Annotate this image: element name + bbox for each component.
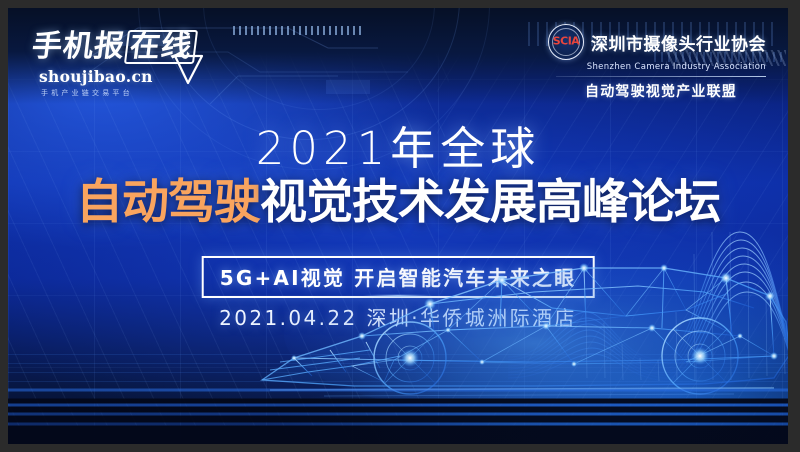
datetime-glow-accent [363,295,433,297]
brand-url: shoujibao.cn [39,67,202,86]
datetime-text: 2021.04.22 深圳·华侨城洲际酒店 [219,306,577,330]
subtitle-banner: 5G+AI视觉 开启智能汽车未来之眼 [202,256,595,298]
tick-strip-decoration [233,26,361,35]
brand-tagline: 手机产业链交易平台 [41,88,202,98]
association-divider [556,76,766,77]
letterbox-bottom [0,444,800,452]
brand-logo: 手机报在线 shoujibao.cn 手机产业链交易平台 [32,30,202,92]
alliance-name-cn: 自动驾驶视觉产业联盟 [556,81,766,101]
letterbox-top [0,0,800,8]
association-name-row: SCIA 深圳市摄像头行业协会 [556,24,766,60]
letterbox-right [788,0,800,452]
tech-arc-decoration [203,8,435,110]
bottom-streak-lines [8,384,788,444]
event-datetime-venue: 2021.04.22 深圳·华侨城洲际酒店 [8,302,788,331]
title-highlight: 自动驾驶 [76,175,260,230]
brand-logo-cjk: 手机报在线 [30,30,204,64]
page-title: 自动驾驶视觉技术发展高峰论坛 [8,179,788,226]
brand-logo-boxed-text: 在线 [124,30,198,64]
title-rest: 视觉技术发展高峰论坛 [260,175,720,230]
association-name-cn: 深圳市摄像头行业协会 [591,30,766,55]
conference-poster: 手机报在线 shoujibao.cn 手机产业链交易平台 SCIA 深圳市摄像头… [8,8,788,444]
screenshot-stage: 手机报在线 shoujibao.cn 手机产业链交易平台 SCIA 深圳市摄像头… [0,0,800,452]
association-name-en: Shenzhen Camera Industry Association [556,62,766,72]
title-year-line: 2021年全球 [8,112,788,177]
association-seal-icon: SCIA [548,24,584,60]
brand-logo-main-text: 手机报 [30,29,127,64]
seal-monogram: SCIA [553,35,580,48]
letterbox-left [0,0,8,452]
bottom-scanline-streaks [8,348,788,382]
association-logo-block: SCIA 深圳市摄像头行业协会 Shenzhen Camera Industry… [556,24,766,101]
